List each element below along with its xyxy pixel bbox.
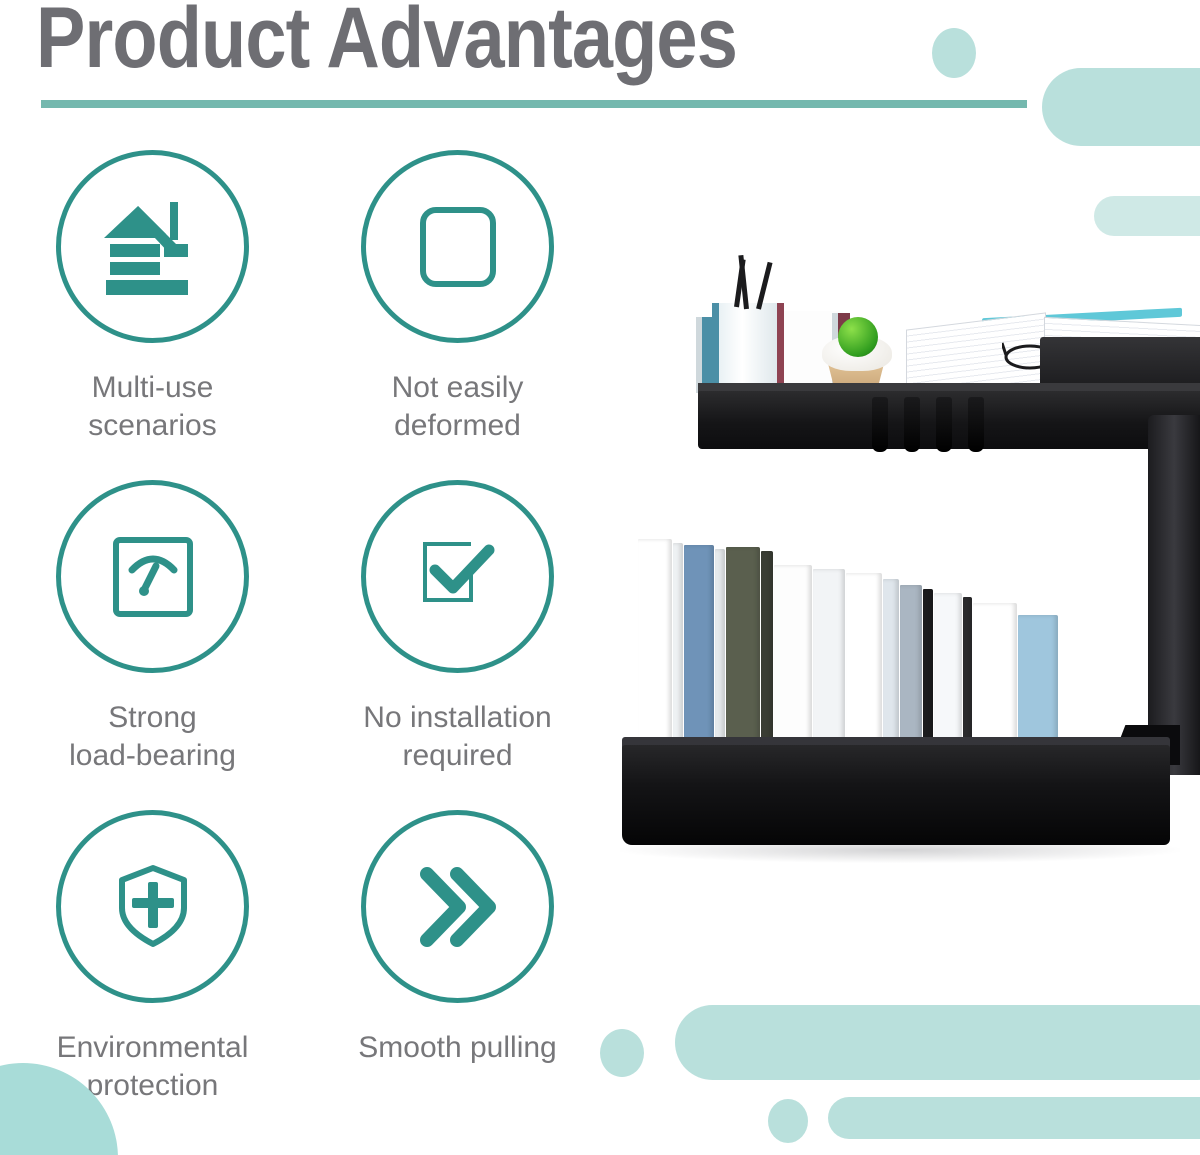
mint-pill-top-right-decoration — [1042, 68, 1200, 146]
checkbox-check-icon — [399, 518, 517, 636]
feature-label: No installation required — [363, 699, 551, 776]
page-title: Product Advantages — [36, 0, 737, 85]
feature-label: Not easily deformed — [392, 369, 524, 446]
feature-label: Multi-use scenarios — [88, 369, 216, 446]
book-spine — [673, 543, 683, 765]
divider-clip-2 — [904, 397, 920, 452]
book-spine — [638, 539, 672, 765]
double-chevron-right-icon — [399, 848, 517, 966]
product-advantages-infographic: Product Advantages — [0, 0, 1200, 1155]
icon-circle — [361, 810, 554, 1003]
bottom-tray-front-panel — [622, 745, 1170, 845]
feature-row: Multi-use scenarios Not easily deformed — [0, 150, 610, 480]
feature-multi-use-scenarios: Multi-use scenarios — [0, 150, 305, 480]
lower-shelf-books — [638, 525, 1158, 765]
book-spine — [684, 545, 714, 765]
icon-circle — [361, 150, 554, 343]
book-spine — [774, 565, 812, 765]
feature-label: Smooth pulling — [358, 1029, 556, 1067]
shield-plus-icon — [94, 848, 212, 966]
mint-circle-bottom-small-2-decoration — [768, 1099, 808, 1143]
divider-clip-3 — [936, 397, 952, 452]
feature-smooth-pulling: Smooth pulling — [305, 810, 610, 1140]
feature-label: Strong load-bearing — [69, 699, 236, 776]
feature-row: Strong load-bearing No installation requ… — [0, 480, 610, 810]
weight-scale-icon — [94, 518, 212, 636]
mint-circle-bottom-small-1-decoration — [600, 1029, 644, 1077]
feature-row: Environmental protection Smooth pulling — [0, 810, 610, 1140]
book-spine — [726, 547, 760, 765]
mint-pill-bottom-small-decoration — [828, 1097, 1200, 1139]
right-support-column — [1148, 415, 1200, 775]
book-spine — [761, 551, 773, 765]
book-spine — [813, 569, 845, 765]
divider-clip-1 — [872, 397, 888, 452]
product-photo — [610, 225, 1200, 955]
feature-strong-load-bearing: Strong load-bearing — [0, 480, 305, 810]
pen-holder — [712, 303, 784, 391]
icon-circle — [56, 150, 249, 343]
house-shelf-icon — [94, 188, 212, 306]
icon-circle — [56, 810, 249, 1003]
feature-no-installation-required: No installation required — [305, 480, 610, 810]
rounded-square-icon — [399, 188, 517, 306]
book-spine — [715, 549, 725, 765]
divider-clip-4 — [968, 397, 984, 452]
mint-pill-bottom-large-decoration — [675, 1005, 1200, 1080]
mint-circle-top-right-decoration — [932, 28, 976, 78]
icon-circle — [56, 480, 249, 673]
cupcake-green-ball — [838, 317, 878, 357]
title-underline-rule — [41, 100, 1027, 108]
feature-not-easily-deformed: Not easily deformed — [305, 150, 610, 480]
icon-circle — [361, 480, 554, 673]
feature-grid: Multi-use scenarios Not easily deformed — [0, 150, 610, 1140]
